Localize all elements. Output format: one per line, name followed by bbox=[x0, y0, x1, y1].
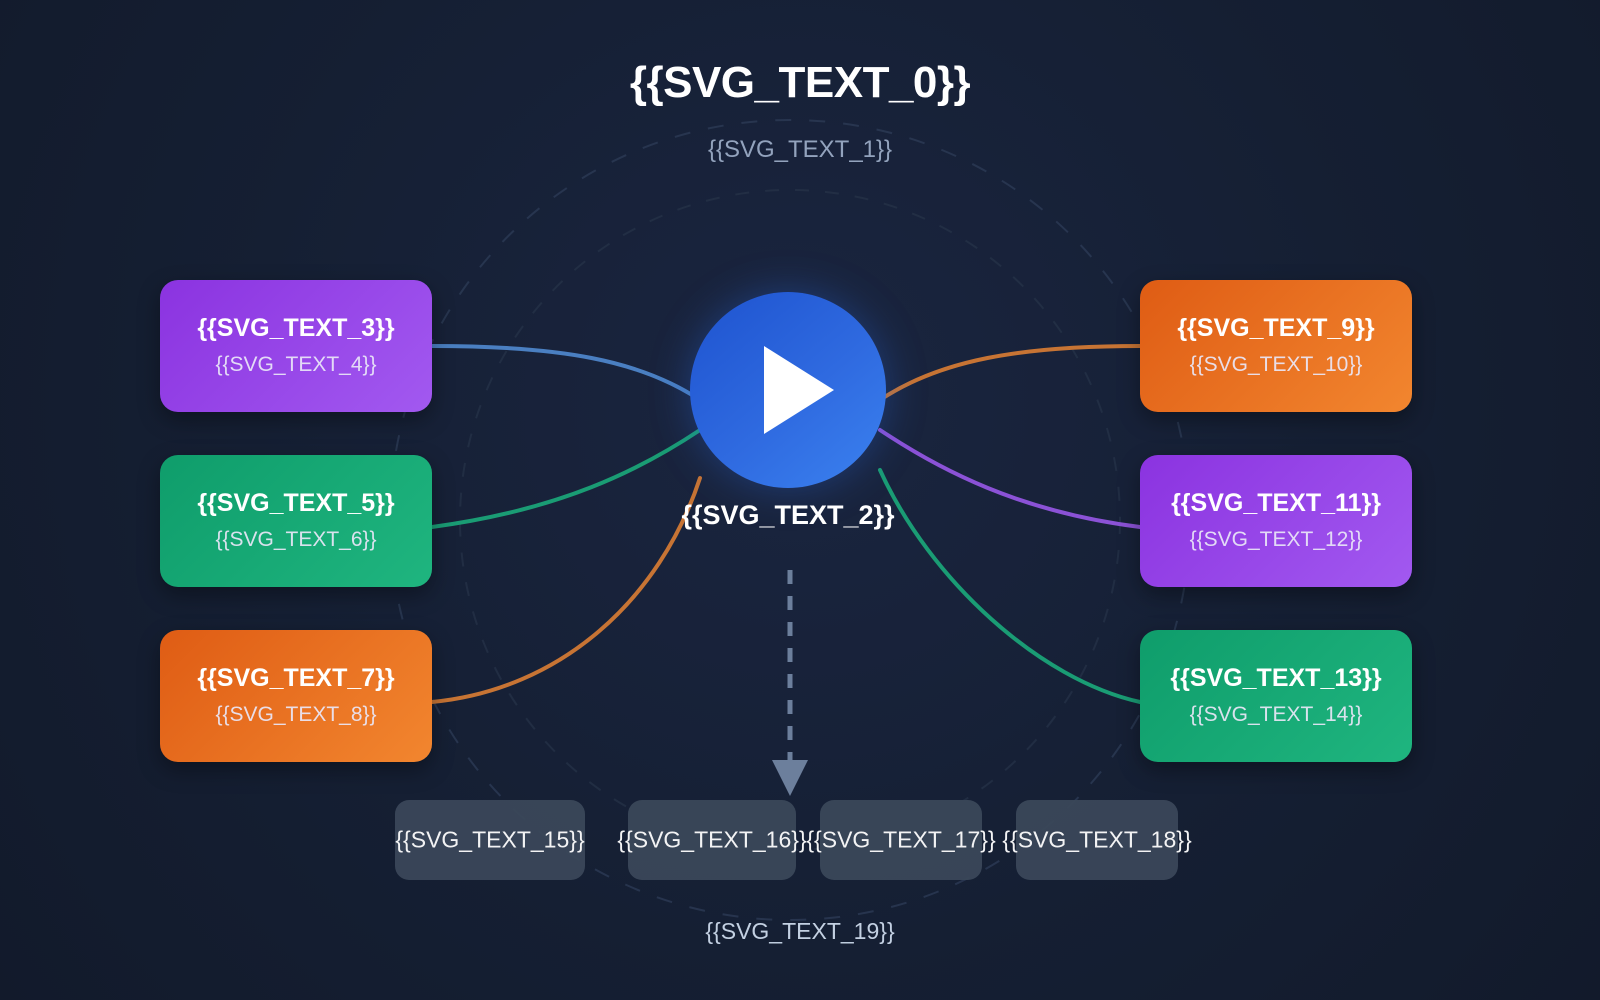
feature-card-right-3[interactable]: {{SVG_TEXT_13}} {{SVG_TEXT_14}} bbox=[1140, 630, 1412, 762]
edge-left-1 bbox=[432, 346, 700, 400]
footer-caption: {{SVG_TEXT_19}} bbox=[0, 918, 1600, 945]
chip-label: {{SVG_TEXT_17}} bbox=[806, 827, 995, 854]
chip-label: {{SVG_TEXT_15}} bbox=[395, 827, 584, 854]
page-subtitle: {{SVG_TEXT_1}} bbox=[0, 136, 1600, 164]
page-title: {{SVG_TEXT_0}} bbox=[0, 58, 1600, 108]
bottom-chip-4[interactable]: {{SVG_TEXT_18}} bbox=[1016, 800, 1178, 880]
arrowhead-icon bbox=[772, 760, 808, 796]
chip-label: {{SVG_TEXT_18}} bbox=[1002, 827, 1191, 854]
card-subtitle: {{SVG_TEXT_6}} bbox=[215, 528, 376, 552]
card-title: {{SVG_TEXT_9}} bbox=[1177, 315, 1374, 343]
card-subtitle: {{SVG_TEXT_12}} bbox=[1190, 528, 1363, 552]
card-subtitle: {{SVG_TEXT_14}} bbox=[1190, 703, 1363, 727]
card-subtitle: {{SVG_TEXT_4}} bbox=[215, 353, 376, 377]
diagram-canvas: {{SVG_TEXT_0}} {{SVG_TEXT_1}} {{SVG_TEXT… bbox=[0, 0, 1600, 1000]
bottom-chip-3[interactable]: {{SVG_TEXT_17}} bbox=[820, 800, 982, 880]
feature-card-left-1[interactable]: {{SVG_TEXT_3}} {{SVG_TEXT_4}} bbox=[160, 280, 432, 412]
play-icon bbox=[764, 346, 834, 434]
feature-card-right-2[interactable]: {{SVG_TEXT_11}} {{SVG_TEXT_12}} bbox=[1140, 455, 1412, 587]
bottom-chip-2[interactable]: {{SVG_TEXT_16}} bbox=[628, 800, 796, 880]
edge-right-1 bbox=[880, 346, 1140, 400]
feature-card-right-1[interactable]: {{SVG_TEXT_9}} {{SVG_TEXT_10}} bbox=[1140, 280, 1412, 412]
feature-card-left-2[interactable]: {{SVG_TEXT_5}} {{SVG_TEXT_6}} bbox=[160, 455, 432, 587]
card-subtitle: {{SVG_TEXT_8}} bbox=[215, 703, 376, 727]
card-title: {{SVG_TEXT_11}} bbox=[1171, 490, 1381, 518]
card-subtitle: {{SVG_TEXT_10}} bbox=[1190, 353, 1363, 377]
card-title: {{SVG_TEXT_7}} bbox=[197, 665, 394, 693]
bottom-chip-1[interactable]: {{SVG_TEXT_15}} bbox=[395, 800, 585, 880]
hub-label: {{SVG_TEXT_2}} bbox=[588, 500, 988, 531]
chip-label: {{SVG_TEXT_16}} bbox=[617, 827, 806, 854]
card-title: {{SVG_TEXT_3}} bbox=[197, 315, 394, 343]
central-hub-button[interactable] bbox=[690, 292, 886, 488]
feature-card-left-3[interactable]: {{SVG_TEXT_7}} {{SVG_TEXT_8}} bbox=[160, 630, 432, 762]
card-title: {{SVG_TEXT_5}} bbox=[197, 490, 394, 518]
card-title: {{SVG_TEXT_13}} bbox=[1170, 665, 1381, 693]
